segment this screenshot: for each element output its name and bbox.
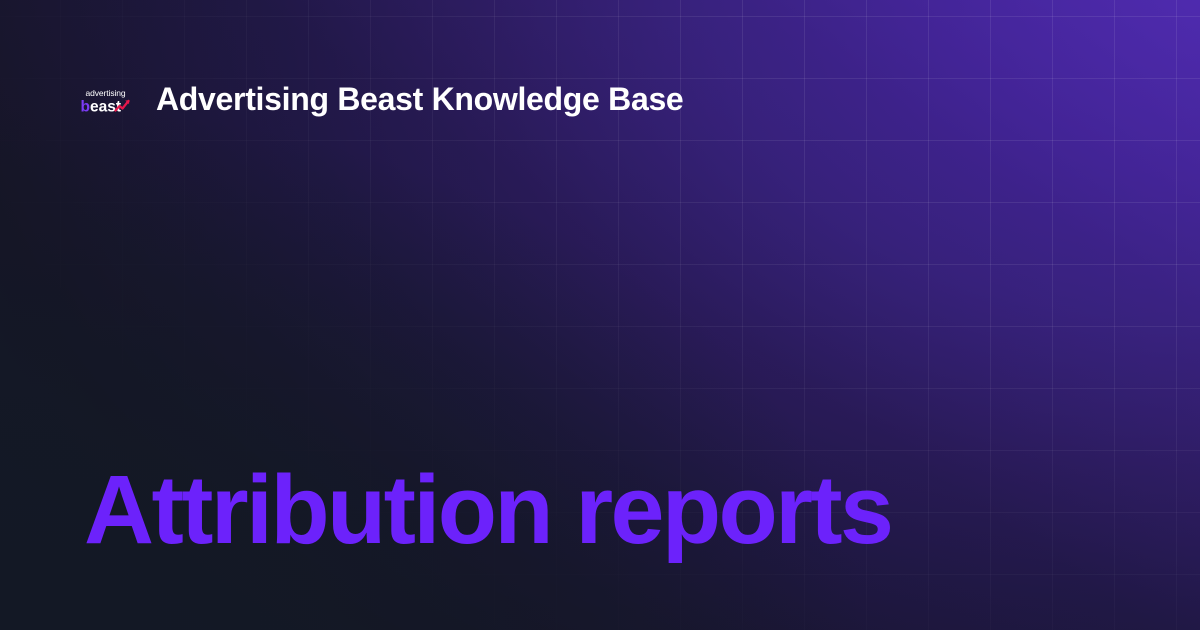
site-title: Advertising Beast Knowledge Base xyxy=(156,82,683,117)
page-title: Attribution reports xyxy=(84,461,891,558)
header: advertising b east Advertising Beast Kno… xyxy=(79,82,683,117)
svg-text:b: b xyxy=(81,98,90,115)
svg-text:advertising: advertising xyxy=(86,88,126,98)
svg-text:east: east xyxy=(90,98,121,115)
advertising-beast-logo-icon[interactable]: advertising b east xyxy=(79,83,137,117)
og-card: advertising b east Advertising Beast Kno… xyxy=(0,0,1200,630)
